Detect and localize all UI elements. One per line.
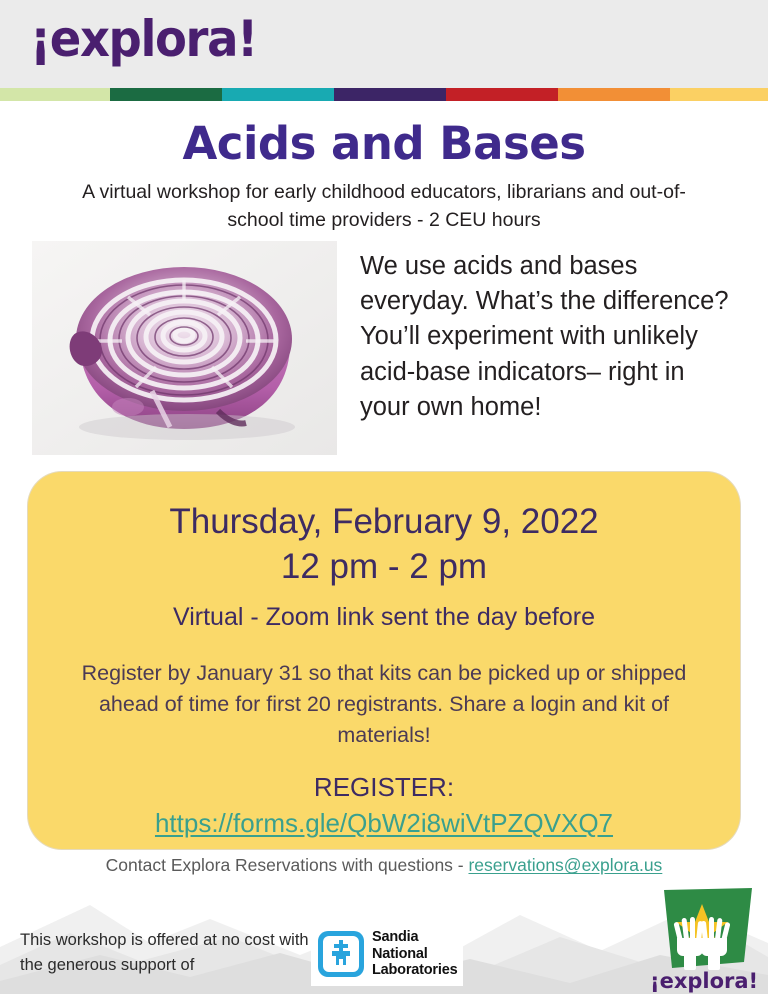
- event-details-panel: Thursday, February 9, 2022 12 pm - 2 pm …: [28, 472, 740, 849]
- registration-form-link[interactable]: https://forms.gle/QbW2i8wiVtPZQVXQ7: [28, 808, 740, 839]
- sandia-thunderbird-icon: [317, 930, 365, 978]
- explora-wordmark-footer: ¡explora!: [650, 969, 758, 993]
- sandia-national-laboratories-logo: Sandia National Laboratories: [311, 922, 463, 986]
- register-label: REGISTER:: [28, 772, 740, 803]
- contact-line: Contact Explora Reservations with questi…: [0, 855, 768, 876]
- contact-prefix: Contact Explora Reservations with questi…: [106, 855, 469, 875]
- stripe-light-green: [0, 88, 110, 101]
- stripe-yellow: [670, 88, 768, 101]
- sandia-line-1: Sandia: [372, 929, 457, 946]
- page-subtitle: A virtual workshop for early childhood e…: [64, 178, 704, 235]
- flyer-page: ¡explora! Acids and Bases A virtual work…: [0, 0, 768, 994]
- explora-badge-logo: ¡explora!: [646, 888, 758, 994]
- red-cabbage-photo: [32, 241, 337, 455]
- stripe-orange: [558, 88, 670, 101]
- page-header: ¡explora!: [0, 0, 768, 88]
- brand-color-stripe-bar: [0, 88, 768, 101]
- stripe-red: [446, 88, 558, 101]
- stripe-teal: [222, 88, 334, 101]
- registration-note: Register by January 31 so that kits can …: [80, 658, 688, 752]
- sponsor-support-text: This workshop is offered at no cost with…: [20, 928, 310, 978]
- sandia-line-3: Laboratories: [372, 962, 457, 979]
- event-date: Thursday, February 9, 2022: [28, 500, 740, 545]
- page-title: Acids and Bases: [0, 117, 768, 170]
- event-datetime: Thursday, February 9, 2022 12 pm - 2 pm: [28, 500, 740, 590]
- sandia-wordmark: Sandia National Laboratories: [372, 929, 457, 979]
- reservations-email-link[interactable]: reservations@explora.us: [468, 855, 662, 875]
- sandia-line-2: National: [372, 946, 457, 963]
- stripe-dark-green: [110, 88, 222, 101]
- stripe-purple: [334, 88, 446, 101]
- intro-paragraph: We use acids and bases everyday. What’s …: [360, 249, 740, 425]
- event-time: 12 pm - 2 pm: [28, 545, 740, 590]
- event-location: Virtual - Zoom link sent the day before: [28, 603, 740, 632]
- explora-wordmark-header: ¡explora!: [30, 14, 257, 64]
